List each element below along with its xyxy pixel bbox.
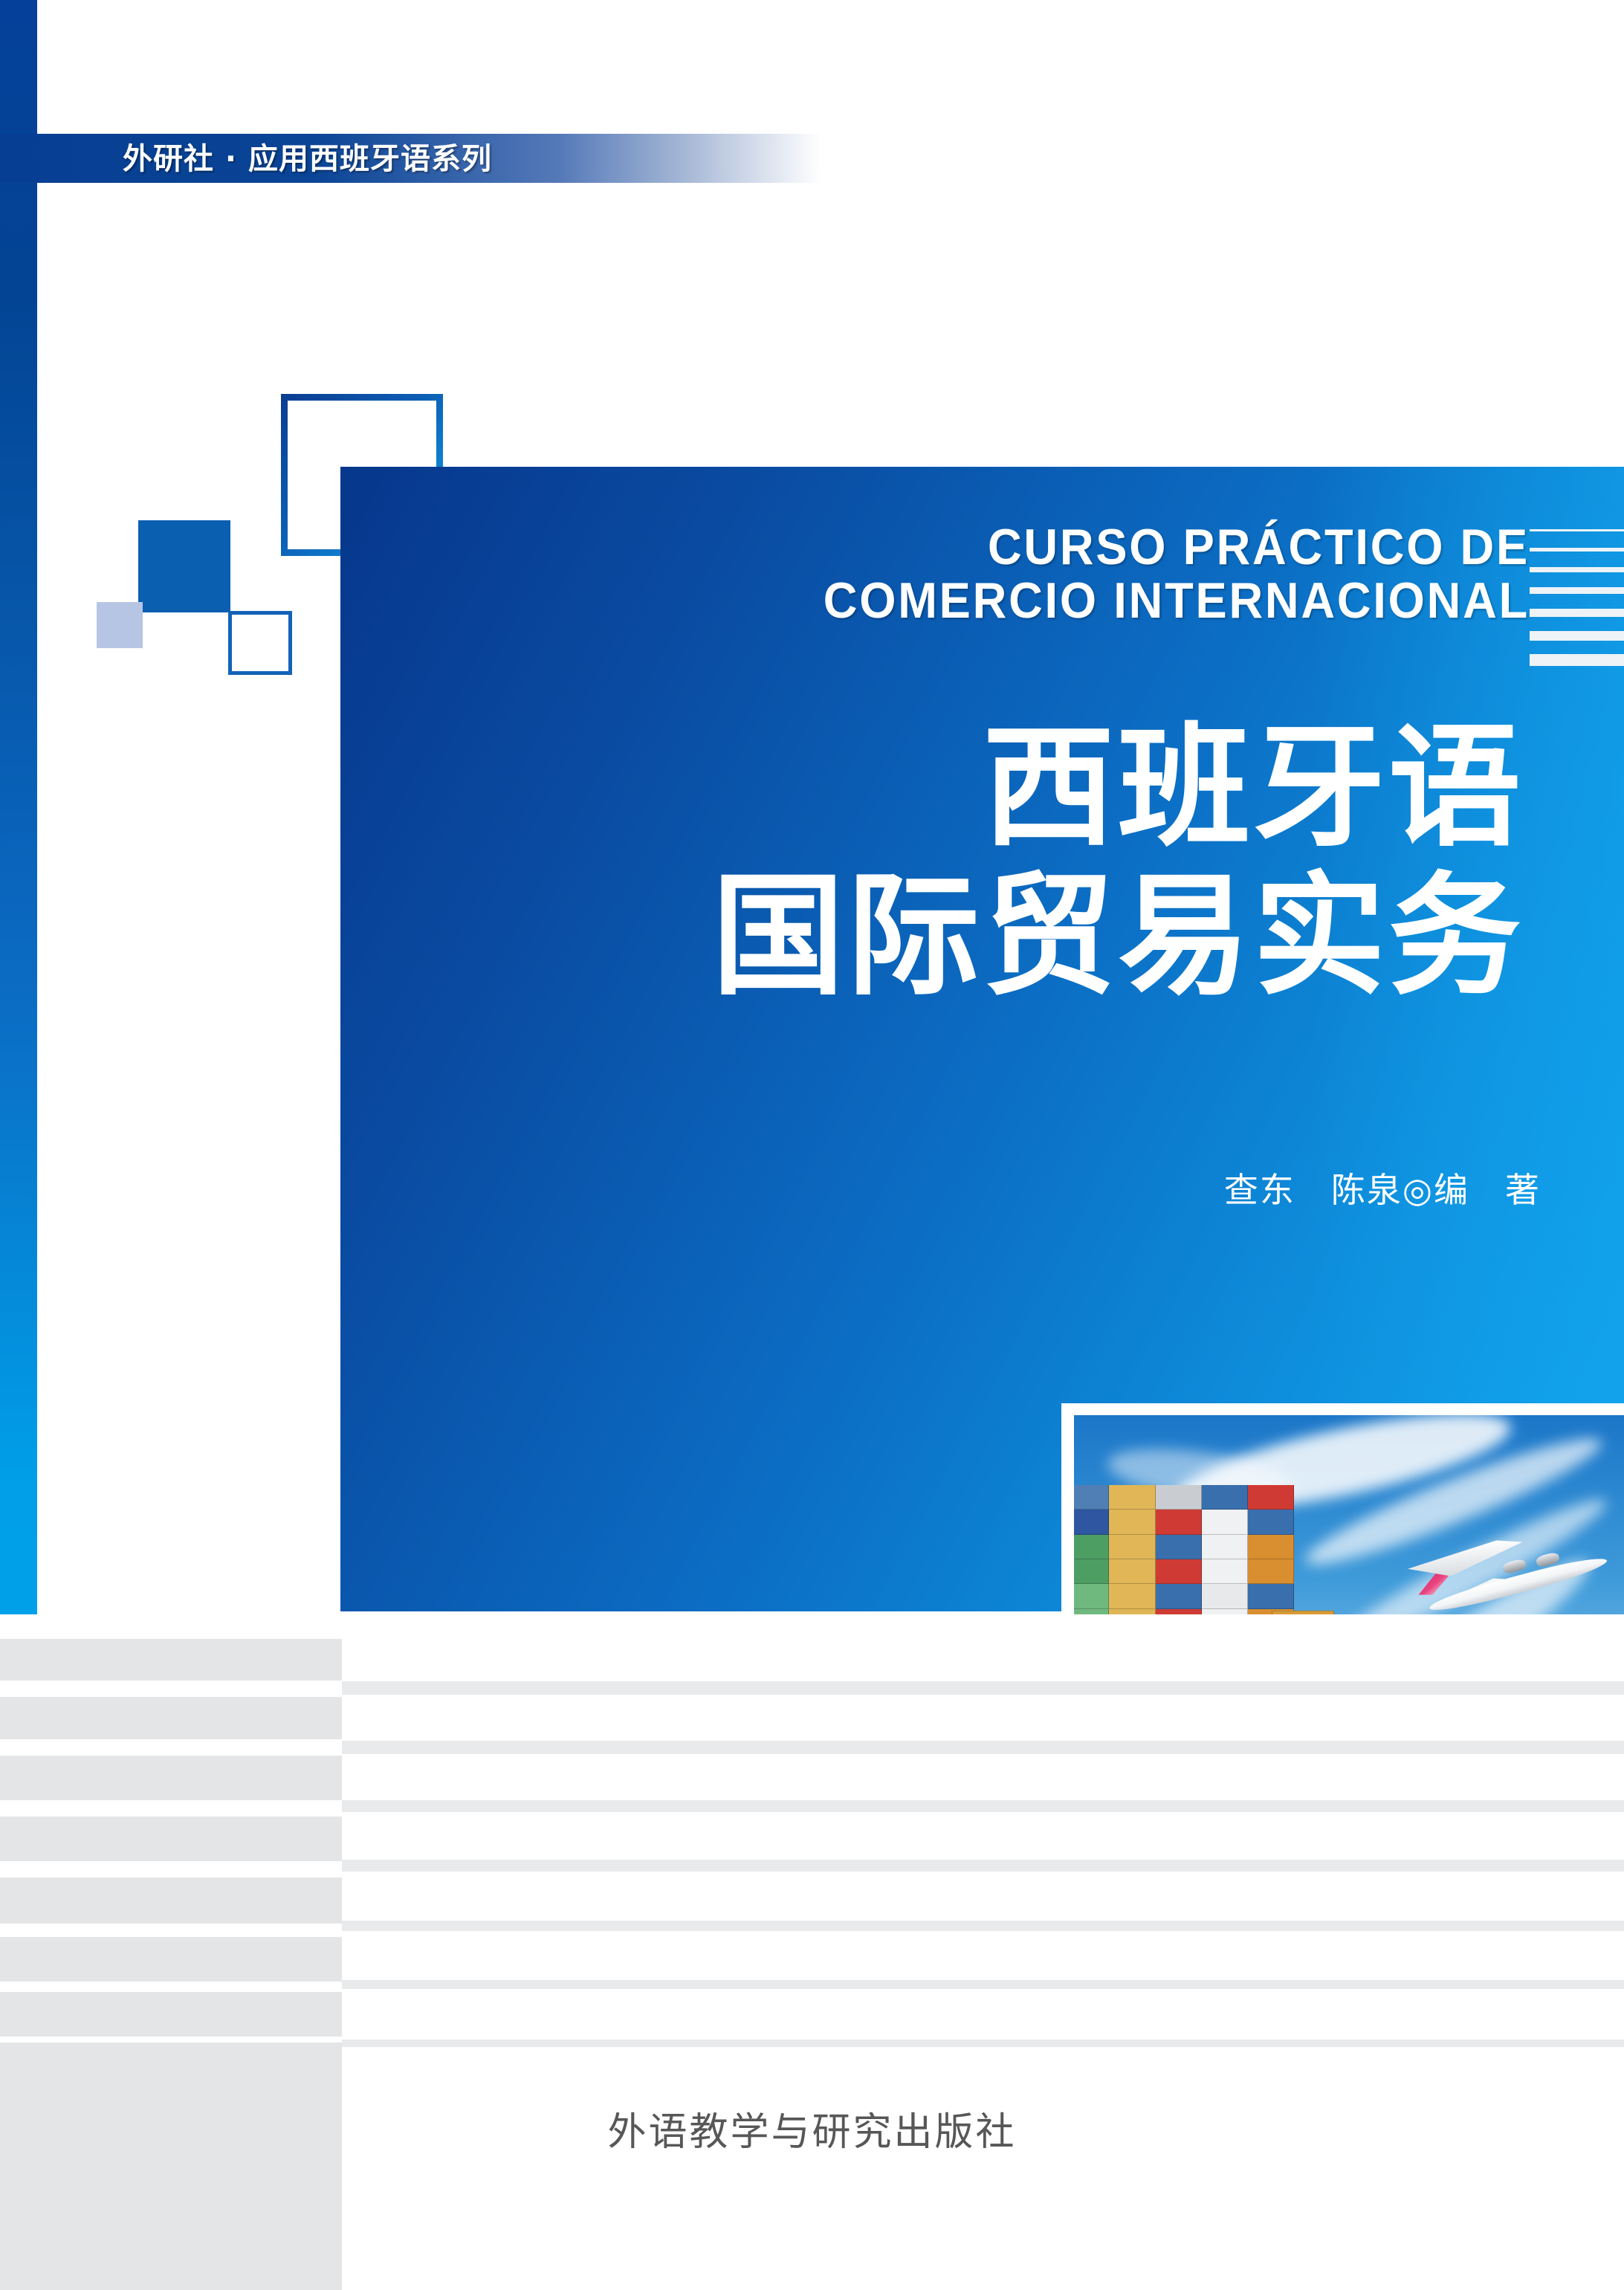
bottom-stripe-left	[0, 1924, 342, 1937]
decorative-rule	[1530, 609, 1624, 617]
airplane-engine	[1502, 1558, 1527, 1575]
bottom-stripe-left	[0, 1697, 342, 1739]
decorative-rule	[1530, 567, 1624, 572]
publisher-name: 外语教学与研究出版社	[0, 2100, 1624, 2156]
bottom-stripe-left	[0, 1982, 342, 1992]
chinese-title-line1: 西班牙语	[340, 714, 1524, 862]
decorative-rule	[1530, 548, 1624, 552]
chinese-title: 西班牙语 国际贸易实务	[340, 714, 1524, 1011]
authors-line: 查东 陈泉◎编 著	[340, 1163, 1541, 1212]
shipping-container	[1202, 1584, 1248, 1608]
airplane-main-wing	[1405, 1538, 1525, 1581]
bottom-stripe-right	[342, 1695, 1624, 1741]
book-cover: 外研社 · 应用西班牙语系列 CURSO PRÁCTICO DE COMERCI…	[0, 0, 1624, 2290]
shipping-container	[1074, 1510, 1109, 1534]
shipping-container	[1202, 1559, 1248, 1584]
bottom-stripe-left	[0, 1739, 342, 1756]
shipping-container	[1156, 1510, 1202, 1534]
shipping-container	[1248, 1584, 1294, 1608]
shipping-container	[1248, 1535, 1294, 1559]
container-row	[1074, 1584, 1294, 1608]
bottom-stripe-right	[342, 1754, 1624, 1800]
left-spine-bar	[0, 0, 37, 1614]
bottom-stripe-left	[0, 2042, 342, 2290]
shipping-container	[1156, 1485, 1202, 1510]
decorative-rule	[1530, 654, 1624, 666]
bottom-stripe-right	[342, 1800, 1624, 1812]
container-row	[1074, 1485, 1294, 1510]
bottom-stripe-right	[342, 1812, 1624, 1860]
bottom-stripe-left	[0, 1992, 342, 2037]
bottom-stripe-right	[342, 2047, 1624, 2290]
shipping-container	[1248, 1485, 1294, 1510]
shipping-container	[1202, 1510, 1248, 1534]
bottom-stripe-right	[342, 1989, 1624, 2040]
decorative-rule	[1530, 529, 1624, 531]
bottom-stripe-right	[342, 1980, 1624, 1989]
shipping-container	[1109, 1485, 1155, 1510]
decorative-rule	[1530, 631, 1624, 641]
container-row	[1074, 1510, 1294, 1534]
chinese-title-line2: 国际贸易实务	[340, 862, 1524, 1011]
bottom-stripe-left	[0, 1681, 342, 1697]
spanish-title-line2: COMERCIO INTERNACIONAL	[424, 574, 1530, 627]
shipping-container	[1156, 1584, 1202, 1608]
container-row	[1074, 1535, 1294, 1559]
shipping-container	[1202, 1535, 1248, 1559]
decorative-square-filled-medium	[138, 520, 230, 612]
shipping-container	[1074, 1559, 1109, 1584]
bottom-stripe-left	[0, 1877, 342, 1924]
decorative-square-pale	[97, 602, 143, 648]
spanish-title-line1: CURSO PRÁCTICO DE	[988, 519, 1530, 575]
decorative-square-outline-small	[228, 611, 292, 675]
shipping-container	[1156, 1535, 1202, 1559]
bottom-stripe-right	[342, 1921, 1624, 1931]
bottom-stripe-left	[0, 2037, 342, 2042]
shipping-container	[1109, 1535, 1155, 1559]
airplane-icon	[1399, 1513, 1608, 1615]
bottom-stripe-right	[342, 2040, 1624, 2047]
bottom-stripe-left	[0, 1817, 342, 1861]
shipping-container	[1109, 1559, 1155, 1584]
bottom-stripe-right	[342, 1741, 1624, 1754]
shipping-container	[1074, 1485, 1109, 1510]
shipping-container	[1109, 1584, 1155, 1608]
shipping-container	[1074, 1535, 1109, 1559]
spanish-title: CURSO PRÁCTICO DE COMERCIO INTERNACIONAL	[424, 520, 1530, 627]
shipping-container	[1074, 1584, 1109, 1608]
shipping-container	[1156, 1559, 1202, 1584]
shipping-container	[1202, 1485, 1248, 1510]
left-spine-bar-cap	[0, 1591, 37, 1614]
shipping-container	[1248, 1559, 1294, 1584]
decorative-rule-stack	[1530, 529, 1624, 666]
bottom-stripe-right	[342, 1860, 1624, 1872]
bottom-stripe-right	[342, 1931, 1624, 1980]
bottom-stripe-left	[0, 1756, 342, 1800]
decorative-rule	[1530, 587, 1624, 594]
bottom-stripe-left	[0, 1614, 342, 1639]
container-row	[1074, 1559, 1294, 1584]
bottom-stripe-right	[342, 1614, 1624, 1681]
bottom-stripe-area	[0, 1614, 1624, 2290]
bottom-stripe-right	[342, 1872, 1624, 1921]
shipping-container	[1248, 1510, 1294, 1534]
series-label: 外研社 · 应用西班牙语系列	[123, 138, 492, 181]
bottom-stripe-left	[0, 1639, 342, 1681]
bottom-stripe-left	[0, 1800, 342, 1817]
bottom-stripe-left	[0, 1861, 342, 1877]
bottom-stripe-left	[0, 1937, 342, 1982]
shipping-container	[1109, 1510, 1155, 1534]
bottom-stripe-right	[342, 1681, 1624, 1695]
